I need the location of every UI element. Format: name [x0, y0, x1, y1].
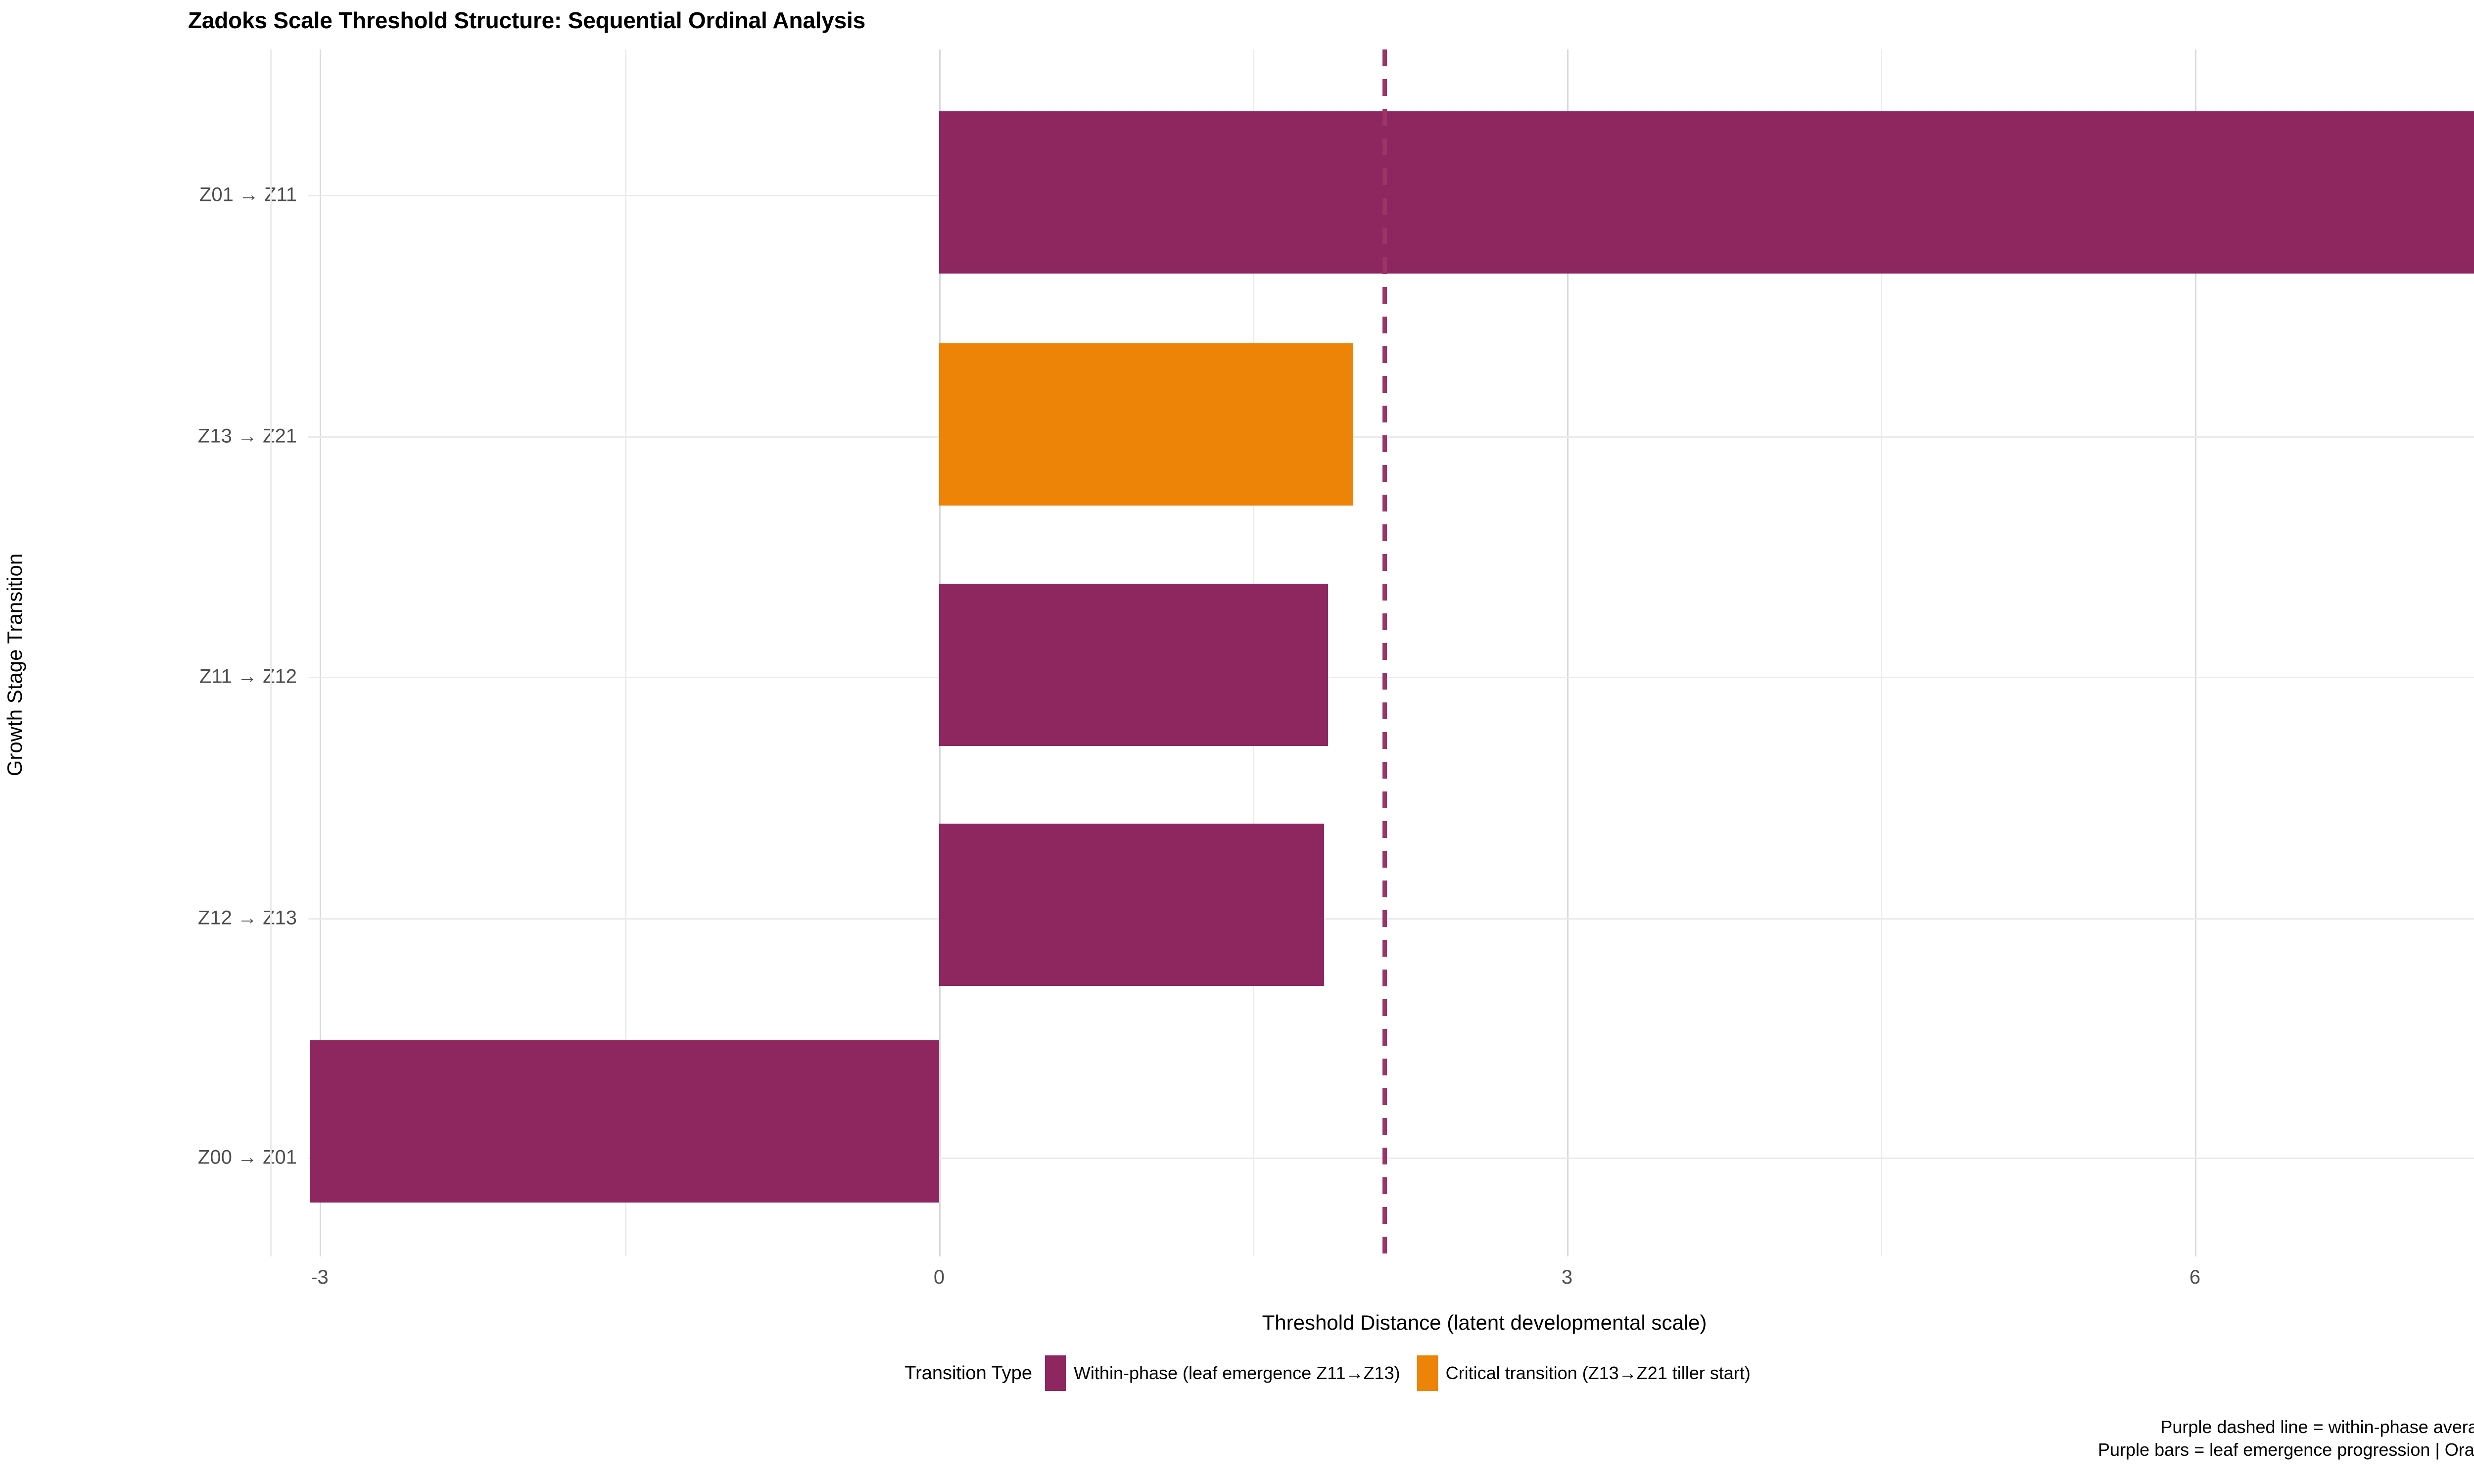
y-tick-label-4: Z00 → Z01 — [198, 1147, 297, 1169]
y-tick-label-3: Z12 → Z13 — [198, 907, 297, 929]
bar-z00-z01[interactable] — [310, 1040, 939, 1203]
legend-label-within-phase: Within-phase (leaf emergence Z11→Z13) — [1074, 1363, 1400, 1384]
plot-area — [308, 49, 2474, 1256]
caption-line-1: Purple dashed line = within-phase averag… — [2098, 1416, 2474, 1438]
gridline-y-3 — [308, 918, 2474, 920]
gridline-y-2 — [308, 677, 2474, 678]
y-tick-label-1: Z13 → Z21 — [198, 425, 297, 448]
x-axis-tick-labels: -3 0 3 6 — [308, 1266, 2474, 1296]
x-tick-label-1: 0 — [934, 1266, 945, 1289]
bar-z01-z11[interactable] — [939, 111, 2474, 274]
x-tick-label-0: -3 — [311, 1266, 329, 1289]
y-axis-tick-labels: Z01 → Z11 Z13 → Z21 Z11 → Z12 Z12 → Z13 … — [0, 49, 297, 1256]
legend-label-critical-transition: Critical transition (Z13→Z21 tiller star… — [1446, 1363, 1751, 1384]
y-tick-label-0: Z01 → Z11 — [199, 184, 297, 206]
chart-root: Zadoks Scale Threshold Structure: Sequen… — [0, 0, 2474, 1484]
legend-swatch-purple-icon — [1045, 1355, 1066, 1391]
legend-swatch-orange-icon — [1417, 1355, 1438, 1391]
caption-line-2: Purple bars = leaf emergence progression… — [2098, 1438, 2474, 1461]
y-tick-label-2: Z11 → Z12 — [199, 666, 297, 688]
legend-title: Transition Type — [904, 1363, 1032, 1384]
legend-item-critical-transition[interactable]: Critical transition (Z13→Z21 tiller star… — [1417, 1355, 1751, 1391]
caption-block: Purple dashed line = within-phase averag… — [2098, 1416, 2474, 1461]
x-tick-label-3: 6 — [2189, 1266, 2200, 1289]
x-axis-title: Threshold Distance (latent developmental… — [308, 1311, 2474, 1335]
page-title: Zadoks Scale Threshold Structure: Sequen… — [188, 7, 865, 34]
bar-z13-z21[interactable] — [939, 343, 1353, 506]
bar-z11-z12[interactable] — [939, 584, 1328, 746]
legend: Transition Type Within-phase (leaf emerg… — [0, 1355, 2474, 1391]
reference-line-average-spacing — [1382, 49, 1387, 1256]
gridline-minor-x--1.5 — [270, 49, 272, 1256]
gridline-y-1 — [308, 436, 2474, 438]
legend-item-within-phase[interactable]: Within-phase (leaf emergence Z11→Z13) — [1045, 1355, 1400, 1391]
x-tick-label-2: 3 — [1562, 1266, 1572, 1289]
y-axis-title: Growth Stage Transition — [3, 61, 27, 1268]
bar-z12-z13[interactable] — [939, 824, 1324, 986]
